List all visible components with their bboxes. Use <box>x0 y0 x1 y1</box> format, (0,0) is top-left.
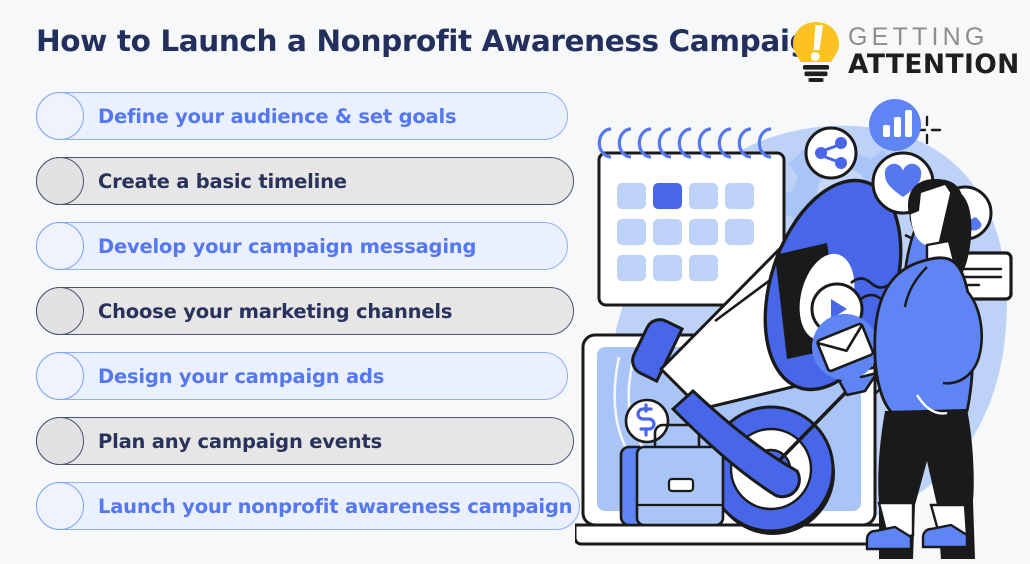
envelope-bubble-icon <box>812 314 878 380</box>
step-item-6[interactable]: Plan any campaign events <box>36 417 574 465</box>
logo-line-attention: ATTENTION <box>848 51 1020 79</box>
brand-logo: GETTING ATTENTION <box>790 20 1000 82</box>
lightbulb-exclamation-icon <box>790 20 842 82</box>
step-label: Create a basic timeline <box>98 170 347 193</box>
logo-line-getting: GETTING <box>848 24 1020 51</box>
step-label: Develop your campaign messaging <box>98 235 476 258</box>
step-label: Define your audience & set goals <box>98 105 456 128</box>
step-checkbox-circle[interactable] <box>36 157 84 205</box>
step-label: Plan any campaign events <box>98 430 382 453</box>
step-item-1[interactable]: Define your audience & set goals <box>36 92 568 140</box>
logo-wordmark: GETTING ATTENTION <box>848 24 1020 79</box>
step-label: Choose your marketing channels <box>98 300 452 323</box>
step-checkbox-circle[interactable] <box>36 92 84 140</box>
step-item-2[interactable]: Create a basic timeline <box>36 157 574 205</box>
step-label: Design your campaign ads <box>98 365 384 388</box>
nonprofit-awareness-campaign-illustration <box>575 95 1030 564</box>
step-checkbox-circle[interactable] <box>36 287 84 335</box>
step-item-7[interactable]: Launch your nonprofit awareness campaign <box>36 482 580 530</box>
dollar-coin-icon <box>626 400 668 442</box>
step-item-4[interactable]: Choose your marketing channels <box>36 287 574 335</box>
share-bubble-icon <box>806 128 856 178</box>
step-checkbox-circle[interactable] <box>36 417 84 465</box>
page-title: How to Launch a Nonprofit Awareness Camp… <box>36 24 831 58</box>
campaign-steps-list: Define your audience & set goals Create … <box>36 92 596 547</box>
step-item-5[interactable]: Design your campaign ads <box>36 352 568 400</box>
bar-chart-bubble-icon <box>869 99 921 151</box>
header: How to Launch a Nonprofit Awareness Camp… <box>0 0 1030 95</box>
step-item-3[interactable]: Develop your campaign messaging <box>36 222 568 270</box>
step-label: Launch your nonprofit awareness campaign <box>98 495 572 518</box>
step-checkbox-circle[interactable] <box>36 352 84 400</box>
step-checkbox-circle[interactable] <box>36 222 84 270</box>
step-checkbox-circle[interactable] <box>36 482 84 530</box>
